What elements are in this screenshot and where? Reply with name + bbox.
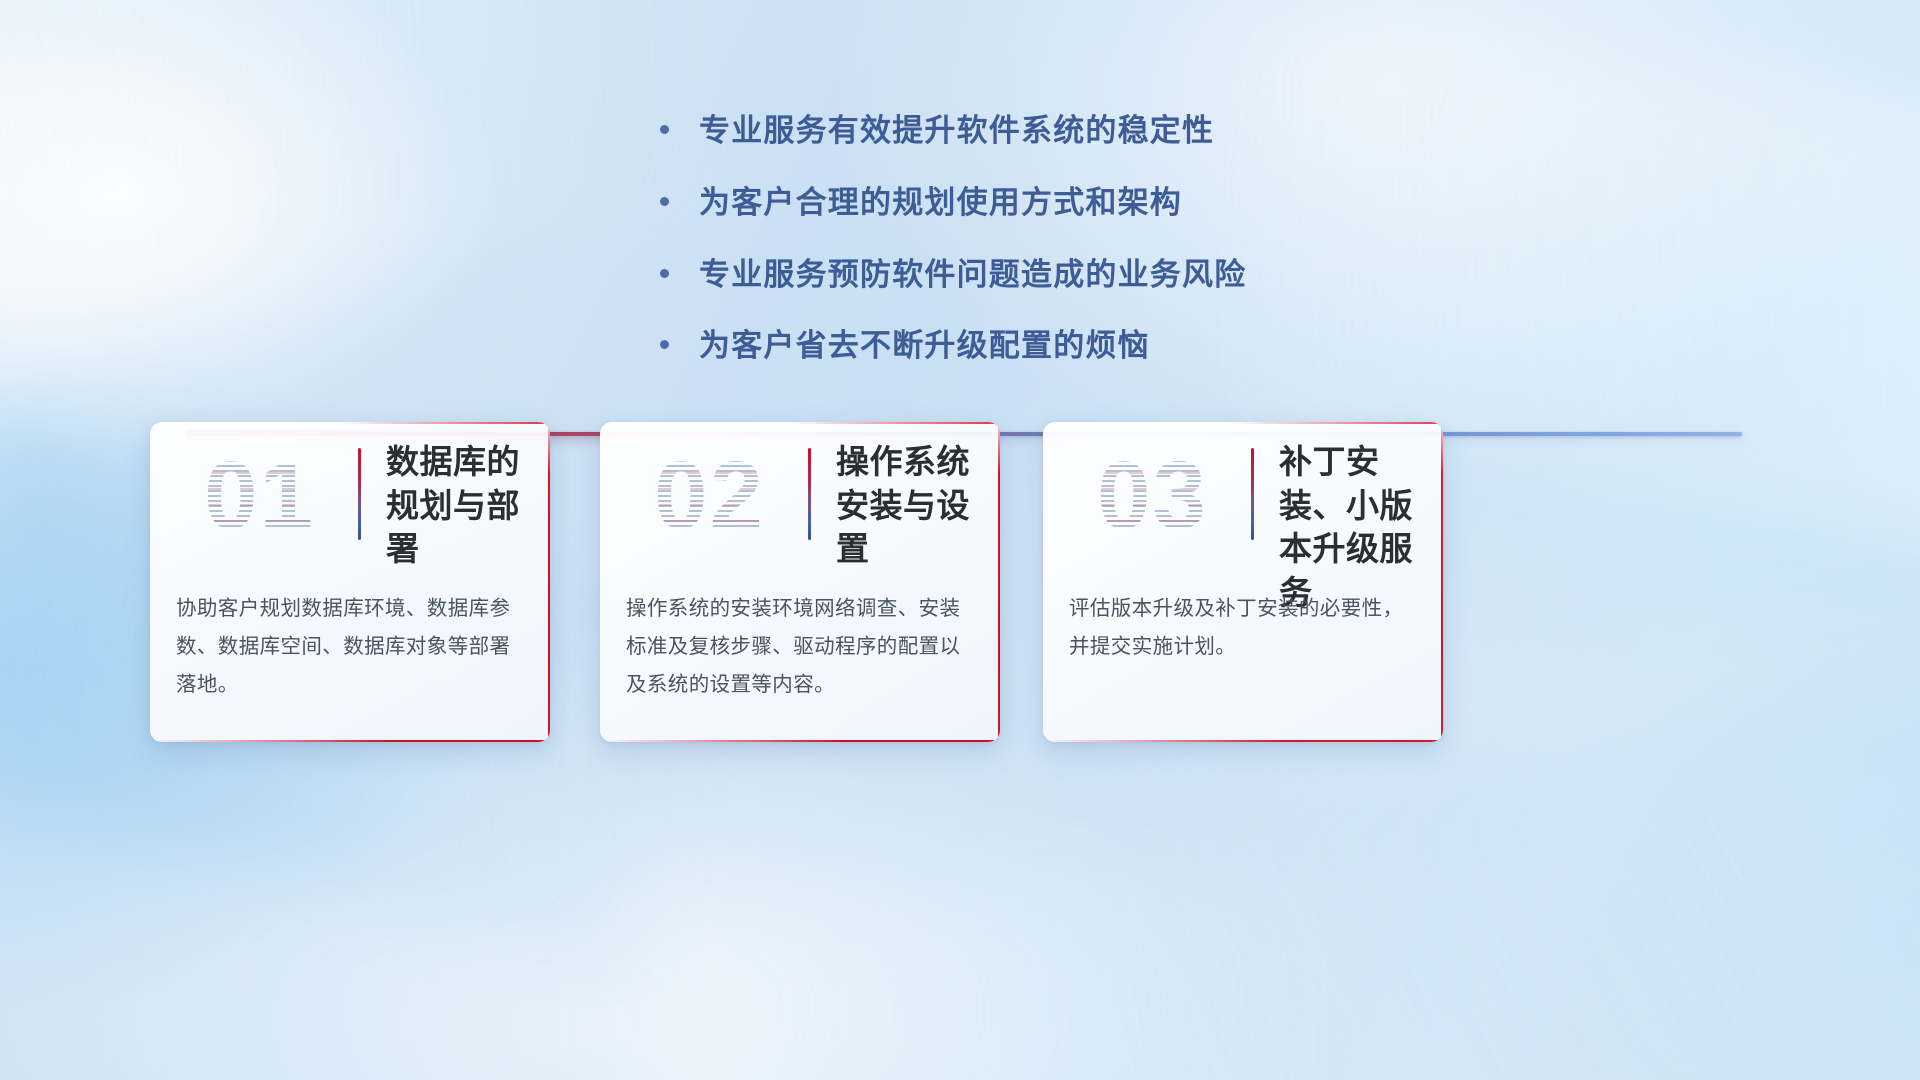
- list-item: 专业服务有效提升软件系统的稳定性: [660, 112, 1420, 151]
- card-edge-bottom: [150, 740, 550, 743]
- card-accent-bar: [808, 448, 811, 540]
- card-title: 补丁安装、小版本升级服务: [1279, 440, 1429, 614]
- bullet-dot-icon: [660, 269, 669, 278]
- slide-canvas: 专业服务有效提升软件系统的稳定性 为客户合理的规划使用方式和架构 专业服务预防软…: [0, 0, 1920, 1080]
- card-accent-bar: [1251, 448, 1254, 540]
- card-02[interactable]: 02 02 操作系统安装与设置 操作系统的安装环境网络调查、安装标准及复核步骤、…: [600, 422, 1000, 742]
- bullet-text: 为客户合理的规划使用方式和架构: [699, 184, 1182, 223]
- card-edge-bottom: [600, 740, 1000, 743]
- card-number-watermark-tint: 03: [1065, 440, 1240, 552]
- card-03[interactable]: 03 03 补丁安装、小版本升级服务 评估版本升级及补丁安装的必要性，并提交实施…: [1043, 422, 1443, 742]
- bullet-text: 为客户省去不断升级配置的烦恼: [699, 327, 1150, 366]
- light-streak-top-left: [0, 0, 754, 389]
- card-header: 03 03 补丁安装、小版本升级服务: [1043, 422, 1443, 572]
- bullet-dot-icon: [660, 125, 669, 134]
- list-item: 为客户合理的规划使用方式和架构: [660, 184, 1420, 223]
- card-edge-bottom: [1043, 740, 1443, 743]
- light-streak-bottom: [640, 880, 1340, 1080]
- bullet-list: 专业服务有效提升软件系统的稳定性 为客户合理的规划使用方式和架构 专业服务预防软…: [660, 112, 1420, 399]
- card-title: 数据库的规划与部署: [386, 440, 536, 571]
- card-accent-bar: [358, 448, 361, 540]
- card-title: 操作系统安装与设置: [836, 440, 986, 571]
- card-body-text: 评估版本升级及补丁安装的必要性，并提交实施计划。: [1069, 590, 1419, 666]
- bullet-text: 专业服务有效提升软件系统的稳定性: [699, 112, 1214, 151]
- card-group: 01 01 数据库的规划与部署 协助客户规划数据库环境、数据库参数、数据库空间、…: [150, 422, 1770, 752]
- card-body-text: 操作系统的安装环境网络调查、安装标准及复核步骤、驱动程序的配置以及系统的设置等内…: [626, 590, 976, 704]
- card-number-watermark-tint: 01: [172, 440, 347, 552]
- card-header: 02 02 操作系统安装与设置: [600, 422, 1000, 572]
- card-header: 01 01 数据库的规划与部署: [150, 422, 550, 572]
- bullet-dot-icon: [660, 197, 669, 206]
- card-01[interactable]: 01 01 数据库的规划与部署 协助客户规划数据库环境、数据库参数、数据库空间、…: [150, 422, 550, 742]
- card-number-watermark-tint: 02: [622, 440, 797, 552]
- bullet-text: 专业服务预防软件问题造成的业务风险: [699, 256, 1246, 295]
- list-item: 为客户省去不断升级配置的烦恼: [660, 327, 1420, 366]
- card-body-text: 协助客户规划数据库环境、数据库参数、数据库空间、数据库对象等部署落地。: [176, 590, 526, 704]
- list-item: 专业服务预防软件问题造成的业务风险: [660, 256, 1420, 295]
- bullet-dot-icon: [660, 340, 669, 349]
